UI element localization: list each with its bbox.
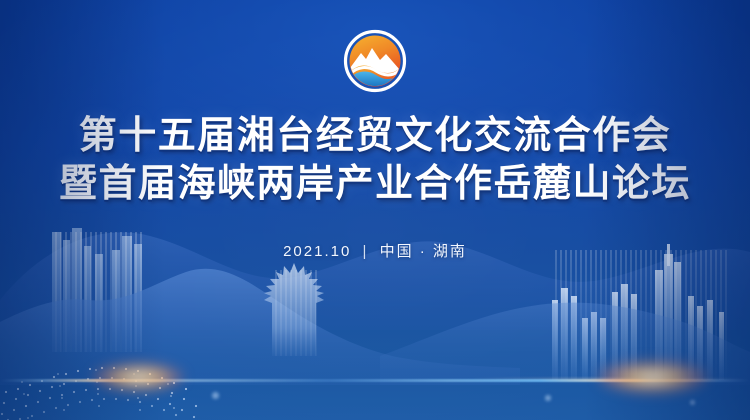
subtitle-date: 2021.10 — [283, 243, 351, 260]
subtitle-date-location: 2021.10 | 中国 · 湖南 — [0, 240, 750, 261]
page-title-line-2: 暨首届海峡两岸产业合作岳麓山论坛 — [0, 160, 750, 208]
aiwan-pavilion-silhouette — [264, 263, 324, 356]
page-title-line-1: 第十五届湘台经贸文化交流合作会 — [0, 112, 750, 160]
title-block: 第十五届湘台经贸文化交流合作会 暨首届海峡两岸产业合作岳麓山论坛 — [0, 112, 750, 208]
subtitle-separator: | — [362, 243, 368, 260]
mountain-sun-water-emblem-logo — [342, 28, 408, 94]
subtitle-location: 中国 · 湖南 — [380, 243, 467, 260]
conference-banner: 第十五届湘台经贸文化交流合作会 暨首届海峡两岸产业合作岳麓山论坛 2021.10… — [0, 0, 750, 420]
